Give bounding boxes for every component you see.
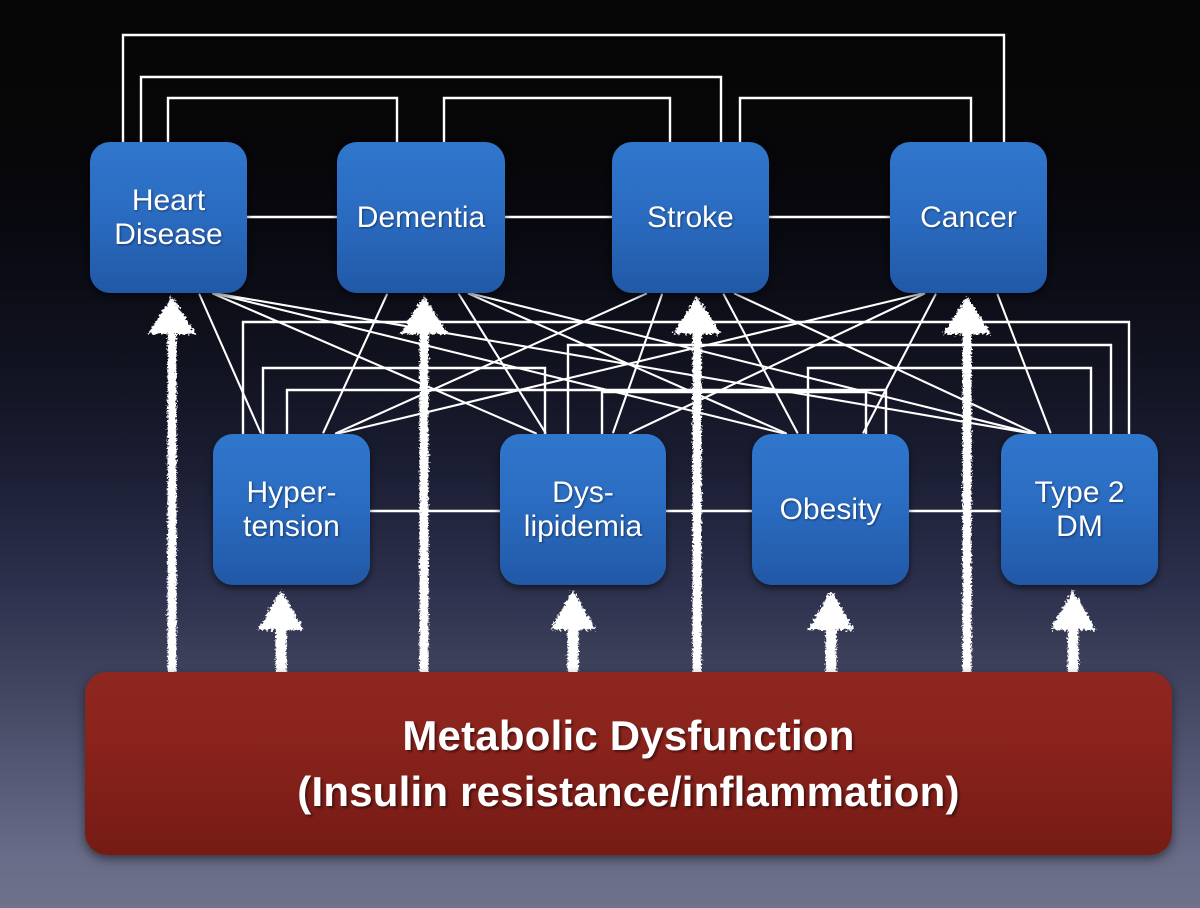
arrow-to-stroke [673,296,721,675]
arrow-shaft [168,331,177,675]
arrow-to-obesity [808,590,854,675]
cross-link-heart-disease-to-dyslipidemia [213,294,536,434]
diagram-canvas: Heart Disease Dementia Stroke Cancer Hyp… [0,0,1200,908]
risk-bracket-hypertension-type2dm [243,322,1129,434]
node-label: Stroke [612,201,769,235]
disease-bracket-stroke-cancer [740,98,971,142]
node-dementia[interactable]: Dementia [337,142,505,293]
disease-bracket-heart-disease-cancer [123,35,1004,142]
cross-link-cancer-to-dyslipidemia [630,294,925,434]
arrow-to-type2dm [1050,590,1096,675]
disease-bracket-heart-disease-dementia [168,98,397,142]
root-title-line-2: (Insulin resistance/inflammation) [297,764,959,820]
node-metabolic-dysfunction[interactable]: Metabolic Dysfunction (Insulin resistanc… [85,672,1172,855]
arrow-shaft [693,331,702,675]
arrow-shaft [420,331,429,675]
node-label: Dementia [337,201,505,235]
node-label: Cancer [890,201,1047,235]
cross-link-heart-disease-to-hypertension [200,295,261,433]
arrow-head [673,296,721,334]
arrow-shaft [276,627,287,675]
arrow-to-dyslipidemia [550,590,596,675]
arrow-shaft [1068,627,1079,675]
node-label: Hyper- tension [213,476,370,544]
node-label: Obesity [752,493,909,527]
arrow-to-heart-disease [148,296,196,675]
node-label: Type 2 DM [1001,476,1158,544]
disease-bracket-dementia-stroke [444,98,670,142]
cross-link-heart-disease-to-type2dm [215,293,1033,433]
arrow-head [400,296,448,334]
arrow-head [550,590,596,630]
arrow-shaft [963,331,972,675]
node-dyslipidemia[interactable]: Dys- lipidemia [500,434,666,585]
arrow-head [1050,590,1096,630]
arrow-head [943,296,991,334]
node-cancer[interactable]: Cancer [890,142,1047,293]
risk-bracket-obesity-type2dm [808,368,1091,434]
arrow-head [258,590,304,630]
arrow-shaft [568,627,579,675]
root-title-line-1: Metabolic Dysfunction [297,708,959,764]
arrow-shaft [826,627,837,675]
arrow-to-hypertension [258,590,304,675]
node-label: Dys- lipidemia [500,476,666,544]
node-heart-disease[interactable]: Heart Disease [90,142,247,293]
arrow-to-dementia [400,296,448,675]
arrow-to-cancer [943,296,991,675]
arrow-head [808,590,854,630]
arrow-head [148,296,196,334]
cross-link-cancer-to-type2dm [998,295,1051,433]
cross-link-stroke-to-hypertension [336,294,646,434]
node-stroke[interactable]: Stroke [612,142,769,293]
cross-link-dementia-to-dyslipidemia [459,294,545,432]
node-type2-dm[interactable]: Type 2 DM [1001,434,1158,585]
disease-bracket-heart-disease-stroke [141,77,721,142]
cross-link-dementia-to-type2dm [470,293,1033,433]
node-obesity[interactable]: Obesity [752,434,909,585]
node-hypertension[interactable]: Hyper- tension [213,434,370,585]
risk-bracket-hypertension-dyslipidemia [263,368,545,434]
node-label: Heart Disease [90,184,247,252]
risk-bracket-hypertension-obesity [287,390,886,434]
cross-link-dementia-to-hypertension [323,295,387,433]
cross-link-group [200,293,1051,433]
cross-link-cancer-to-obesity [863,294,935,432]
